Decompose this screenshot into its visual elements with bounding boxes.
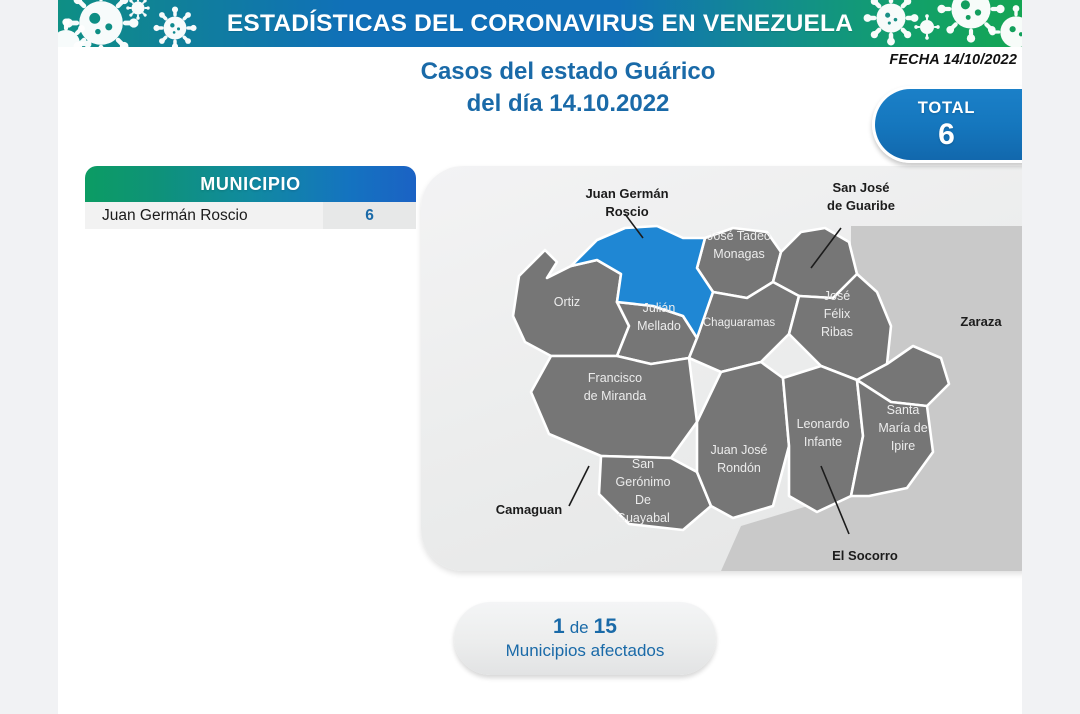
map-label-san-geronimo-line4: Guayabal bbox=[616, 511, 670, 525]
map-label-san-geronimo-line3: De bbox=[635, 493, 651, 507]
map-label-san-geronimo-line2: Gerónimo bbox=[616, 475, 671, 489]
municipality-table: MUNICIPIO Juan Germán Roscio 6 bbox=[85, 166, 416, 230]
banner-title: ESTADÍSTICAS DEL CORONAVIRUS EN VENEZUEL… bbox=[58, 0, 1022, 47]
map-label-camaguan: Camaguan bbox=[496, 502, 563, 517]
summary-fraction: 1de15 bbox=[553, 615, 617, 639]
map-label-santa-maria-de-ipire-line1: Santa bbox=[887, 403, 920, 417]
guarico-map: Ortiz Julián Mellado José Tadeo Monagas … bbox=[421, 166, 1022, 571]
map-label-santa-maria-de-ipire-line2: María de bbox=[878, 421, 927, 435]
table-row: Juan Germán Roscio 6 bbox=[85, 202, 416, 230]
map-label-san-jose-de-guaribe-line1: San José bbox=[832, 180, 889, 195]
page-title: Casos del estado Guárico del día 14.10.2… bbox=[288, 56, 848, 119]
map-label-juan-german-roscio-line1: Juan Germán bbox=[585, 186, 668, 201]
leader-line-camaguan bbox=[569, 466, 589, 506]
report-page: ESTADÍSTICAS DEL CORONAVIRUS EN VENEZUEL… bbox=[58, 0, 1022, 714]
header-banner: ESTADÍSTICAS DEL CORONAVIRUS EN VENEZUEL… bbox=[58, 0, 1022, 47]
map-label-julian-mellado-line1: Julián bbox=[643, 301, 676, 315]
map-label-jose-felix-ribas-line2: Félix bbox=[824, 307, 851, 321]
map-label-chaguaramas: Chaguaramas bbox=[703, 317, 775, 329]
summary-connector: de bbox=[570, 618, 589, 637]
map-label-ortiz: Ortiz bbox=[554, 295, 580, 309]
map-label-francisco-de-miranda-line2: de Miranda bbox=[584, 389, 647, 403]
page-title-line1: Casos del estado Guárico bbox=[421, 58, 716, 85]
map-label-jose-felix-ribas-line3: Ribas bbox=[821, 325, 853, 339]
date-stamp: FECHA 14/10/2022 bbox=[889, 52, 1017, 68]
total-label: TOTAL bbox=[918, 99, 975, 118]
map-label-jose-tadeo-monagas-line2: Monagas bbox=[713, 247, 764, 261]
page-title-line2: del día 14.10.2022 bbox=[288, 88, 848, 120]
map-label-leonardo-infante-line1: Leonardo bbox=[797, 417, 850, 431]
map-label-el-socorro: El Socorro bbox=[832, 548, 898, 563]
table-cell-municipality-name: Juan Germán Roscio bbox=[85, 202, 323, 229]
map-label-juan-jose-rondon-line1: Juan José bbox=[711, 443, 768, 457]
map-label-leonardo-infante-line2: Infante bbox=[804, 435, 842, 449]
table-cell-case-count: 6 bbox=[323, 202, 416, 229]
summary-count: 1 bbox=[553, 615, 565, 638]
map-label-san-geronimo-line1: San bbox=[632, 457, 654, 471]
summary-total: 15 bbox=[594, 615, 617, 638]
map-label-zaraza: Zaraza bbox=[960, 314, 1002, 329]
map-region-juan-jose-rondon bbox=[697, 362, 789, 518]
map-label-francisco-de-miranda-line1: Francisco bbox=[588, 371, 642, 385]
total-value: 6 bbox=[938, 119, 955, 151]
table-header-municipio: MUNICIPIO bbox=[85, 166, 416, 202]
map-label-julian-mellado-line2: Mellado bbox=[637, 319, 681, 333]
map-label-juan-jose-rondon-line2: Rondón bbox=[717, 461, 761, 475]
summary-pill: 1de15 Municipios afectados bbox=[454, 602, 716, 675]
map-label-santa-maria-de-ipire-line3: Ipire bbox=[891, 439, 915, 453]
summary-caption: Municipios afectados bbox=[506, 640, 665, 661]
map-label-jose-tadeo-monagas-line1: José Tadeo bbox=[707, 229, 771, 243]
map-label-san-jose-de-guaribe-line2: de Guaribe bbox=[827, 198, 895, 213]
total-badge: TOTAL 6 bbox=[872, 86, 1022, 163]
map-label-juan-german-roscio-line2: Roscio bbox=[605, 204, 648, 219]
map-card: Ortiz Julián Mellado José Tadeo Monagas … bbox=[421, 166, 1022, 571]
map-label-jose-felix-ribas-line1: José bbox=[824, 289, 850, 303]
